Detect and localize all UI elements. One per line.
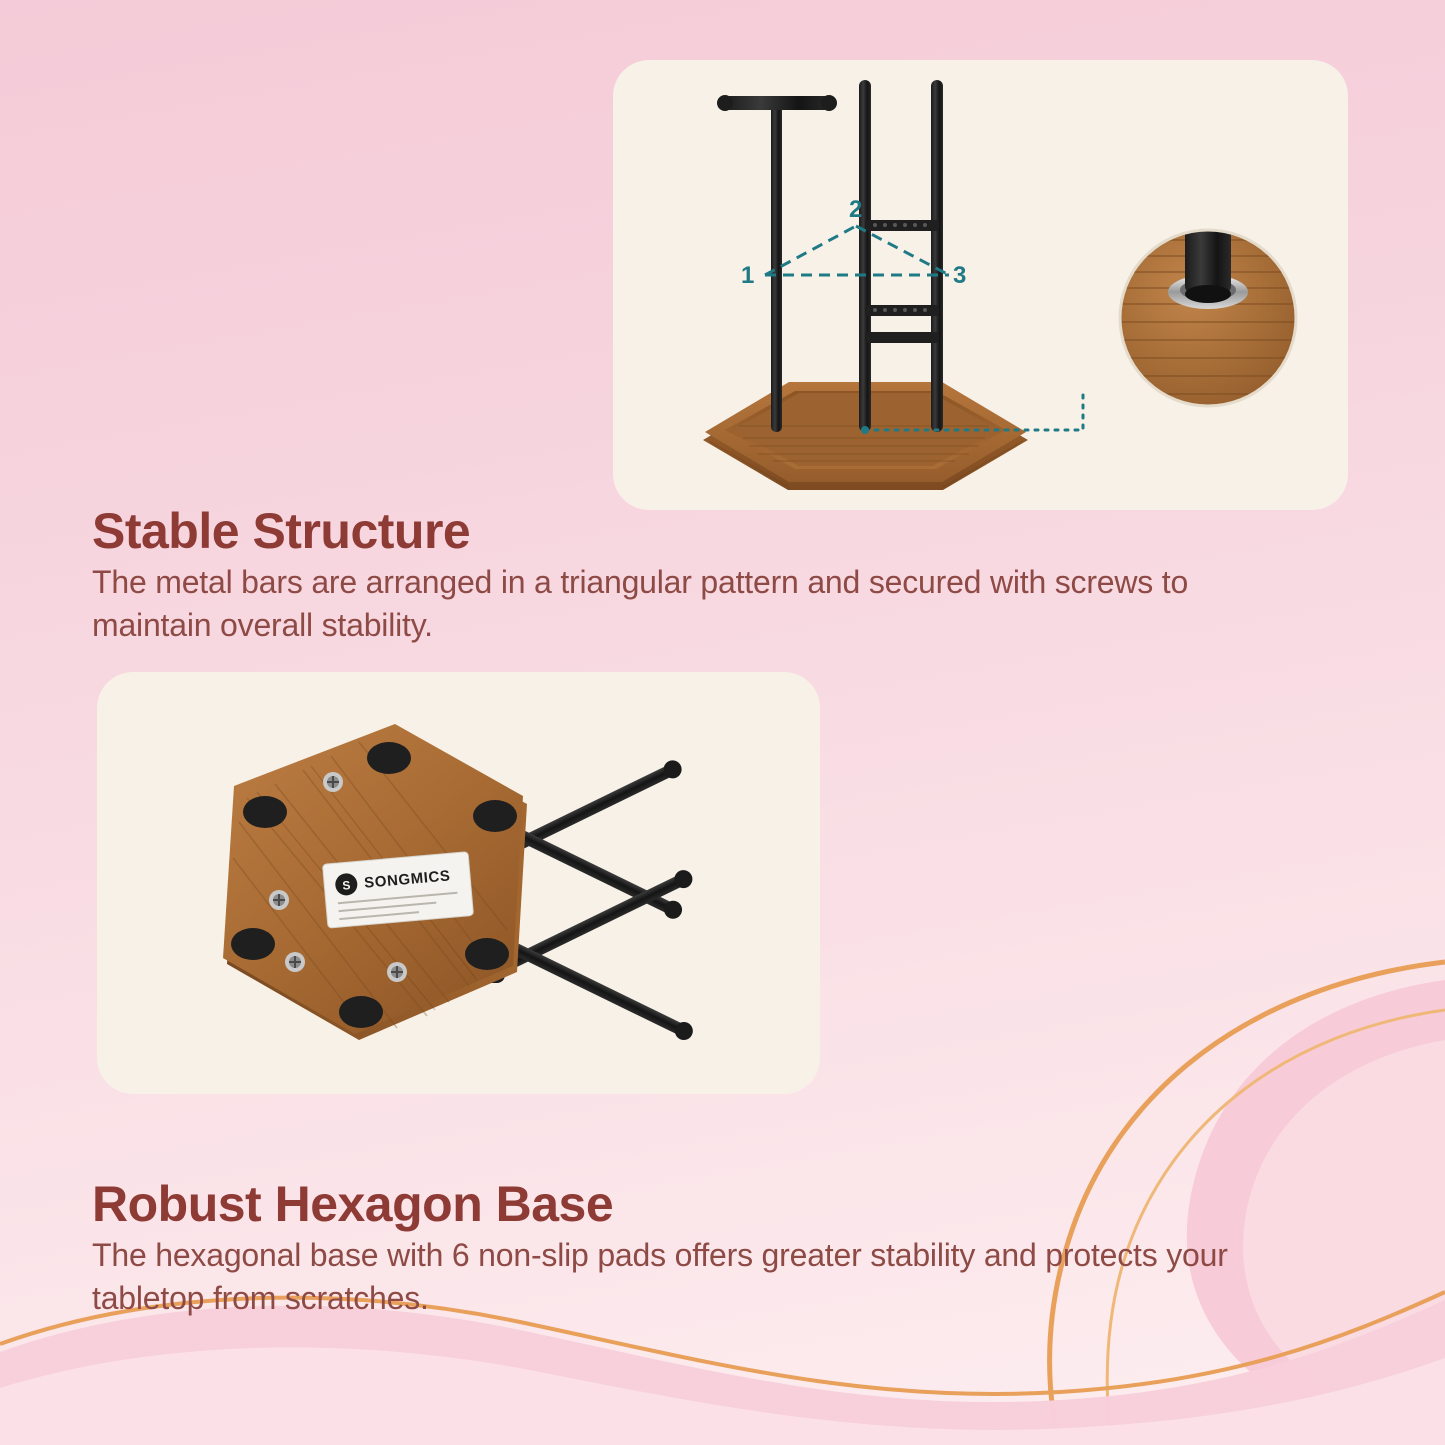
annotation-label-1: 1	[741, 262, 754, 289]
feature-image-stable-structure: 1 2 3	[613, 60, 1348, 510]
hexagon-underside: S SONGMICS	[223, 724, 527, 1040]
product-label: S SONGMICS	[322, 852, 473, 928]
feature-heading-hexagon-base: Robust Hexagon Base	[92, 1175, 613, 1233]
screw-closeup-callout	[1120, 193, 1296, 406]
promo-page: 1 2 3	[0, 0, 1445, 1445]
annotation-label-3: 3	[953, 262, 966, 289]
feature-heading-stable-structure: Stable Structure	[92, 502, 470, 560]
feature-description-hexagon-base: The hexagonal base with 6 non-slip pads …	[92, 1234, 1272, 1320]
feature-description-stable-structure: The metal bars are arranged in a triangu…	[92, 561, 1222, 647]
svg-text:S: S	[342, 878, 351, 893]
feature-image-hexagon-base: S SONGMICS	[97, 672, 820, 1094]
hexagon-base-illustration: S SONGMICS	[97, 672, 820, 1094]
stable-structure-illustration: 1 2 3	[613, 60, 1348, 510]
annotation-label-2: 2	[849, 196, 862, 223]
